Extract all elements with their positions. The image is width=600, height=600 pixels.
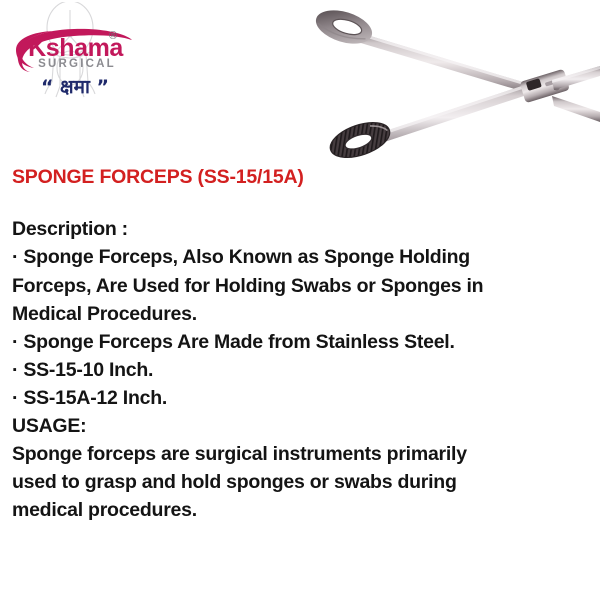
description-line: · Sponge Forceps, Also Known as Sponge H… — [12, 243, 592, 271]
logo-sub-name: SURGICAL — [18, 59, 136, 71]
description-line: Medical Procedures. — [12, 300, 592, 328]
description-line: · Sponge Forceps Are Made from Stainless… — [12, 328, 592, 356]
page-title: SPONGE FORCEPS (SS-15/15A) — [12, 166, 592, 189]
usage-line: Sponge forceps are surgical instruments … — [12, 440, 592, 468]
company-logo: Kshama ® SURGICAL “ क्षमा ” — [8, 2, 138, 110]
registered-trademark-icon: ® — [109, 30, 117, 42]
description-line: · SS-15A-12 Inch. — [12, 384, 592, 412]
usage-heading: USAGE: — [12, 412, 592, 440]
usage-line: used to grasp and hold sponges or swabs … — [12, 468, 592, 496]
logo-devanagari-text: “ क्षमा ” — [16, 78, 134, 97]
usage-section: USAGE: Sponge forceps are surgical instr… — [12, 412, 592, 524]
description-line: · SS-15-10 Inch. — [12, 356, 592, 384]
usage-line: medical procedures. — [12, 496, 592, 524]
description-section: Description : · Sponge Forceps, Also Kno… — [12, 215, 592, 412]
description-heading: Description : — [12, 215, 592, 243]
product-info-content: SPONGE FORCEPS (SS-15/15A) Description :… — [12, 166, 592, 524]
sponge-forceps-photo — [300, 0, 600, 160]
header-area: Kshama ® SURGICAL “ क्षमा ” — [0, 0, 600, 160]
description-line: Forceps, Are Used for Holding Swabs or S… — [12, 272, 592, 300]
